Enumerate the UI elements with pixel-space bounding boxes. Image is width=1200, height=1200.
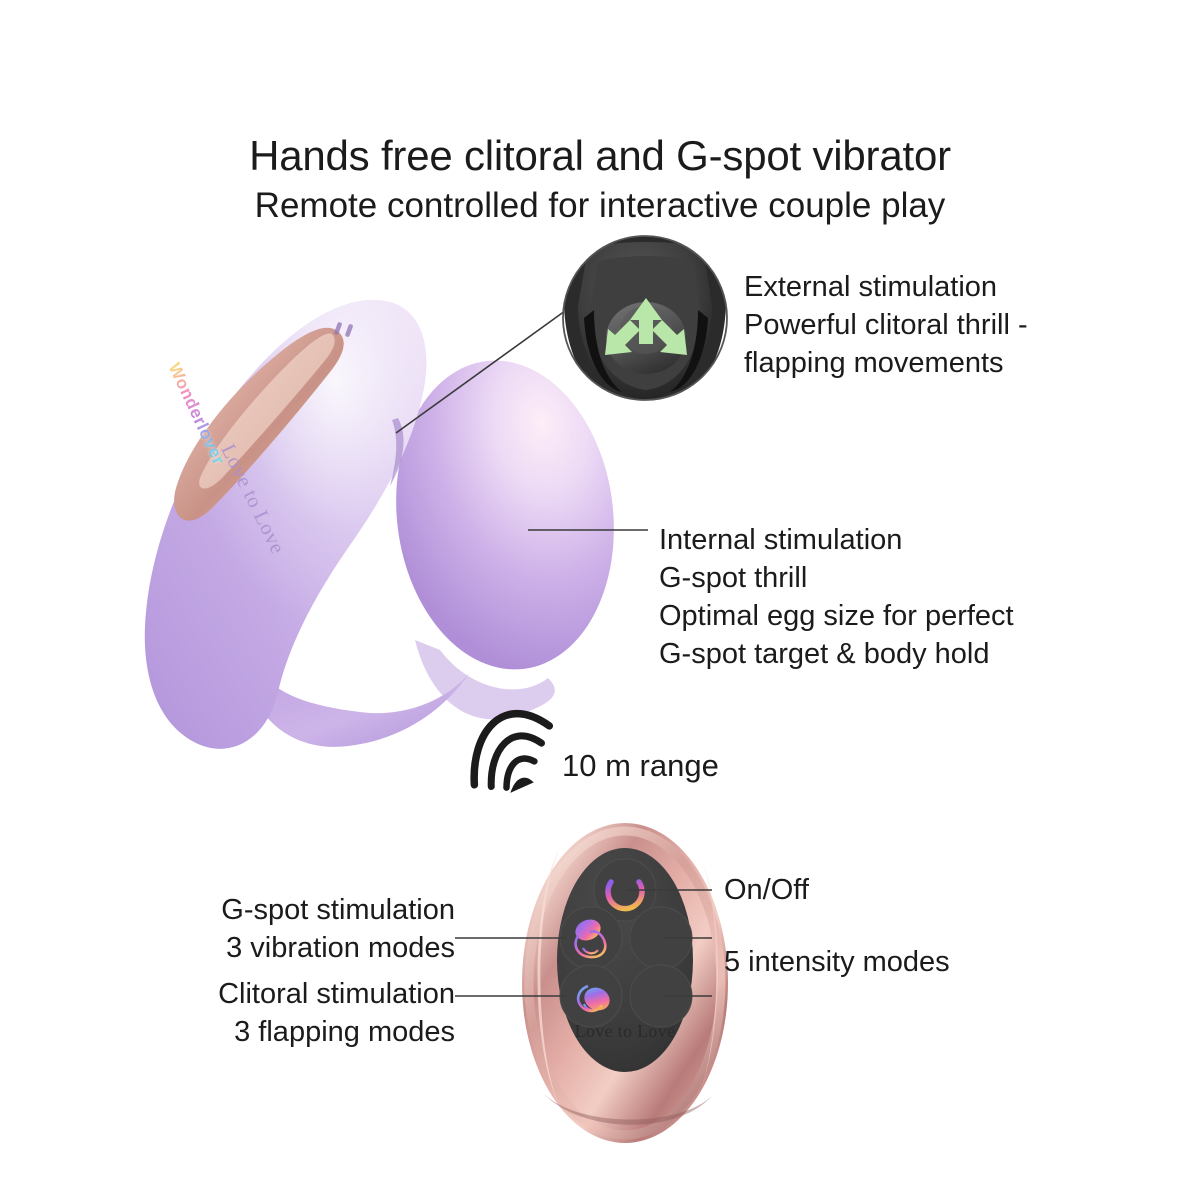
- clitoral-label-line-1: Clitoral stimulation: [85, 975, 455, 1013]
- external-line-2: Powerful clitoral thrill -: [744, 306, 1028, 344]
- gspot-label-line-1: G-spot stimulation: [85, 891, 455, 929]
- wearable-device: [145, 300, 631, 749]
- external-line-3: flapping movements: [744, 344, 1028, 382]
- internal-stimulation-label: Internal stimulation G-spot thrill Optim…: [659, 521, 1014, 673]
- internal-line-2: G-spot thrill: [659, 559, 1014, 597]
- external-stimulation-callout: [560, 232, 732, 417]
- external-stimulation-label: External stimulation Powerful clitoral t…: [744, 268, 1028, 382]
- onoff-label: On/Off: [724, 871, 809, 909]
- gspot-mode-button[interactable]: [560, 907, 622, 969]
- clitoral-label-line-2: 3 flapping modes: [85, 1013, 455, 1051]
- gspot-label-line-2: 3 vibration modes: [85, 929, 455, 967]
- internal-line-4: G-spot target & body hold: [659, 635, 1014, 673]
- infographic-page: Hands free clitoral and G-spot vibrator …: [0, 0, 1200, 1200]
- internal-line-1: Internal stimulation: [659, 521, 1014, 559]
- internal-line-3: Optimal egg size for perfect: [659, 597, 1014, 635]
- clitoral-stimulation-label: Clitoral stimulation 3 flapping modes: [85, 975, 455, 1051]
- wifi-signal-icon: [463, 708, 557, 790]
- clitoral-mode-button[interactable]: [560, 965, 622, 1027]
- remote-control: [522, 823, 728, 1143]
- remote-brand-engraving: Love to Love: [545, 1021, 705, 1042]
- range-label: 10 m range: [562, 748, 719, 784]
- gspot-stimulation-label: G-spot stimulation 3 vibration modes: [85, 891, 455, 967]
- intensity-modes-label: 5 intensity modes: [724, 943, 950, 981]
- external-line-1: External stimulation: [744, 268, 1028, 306]
